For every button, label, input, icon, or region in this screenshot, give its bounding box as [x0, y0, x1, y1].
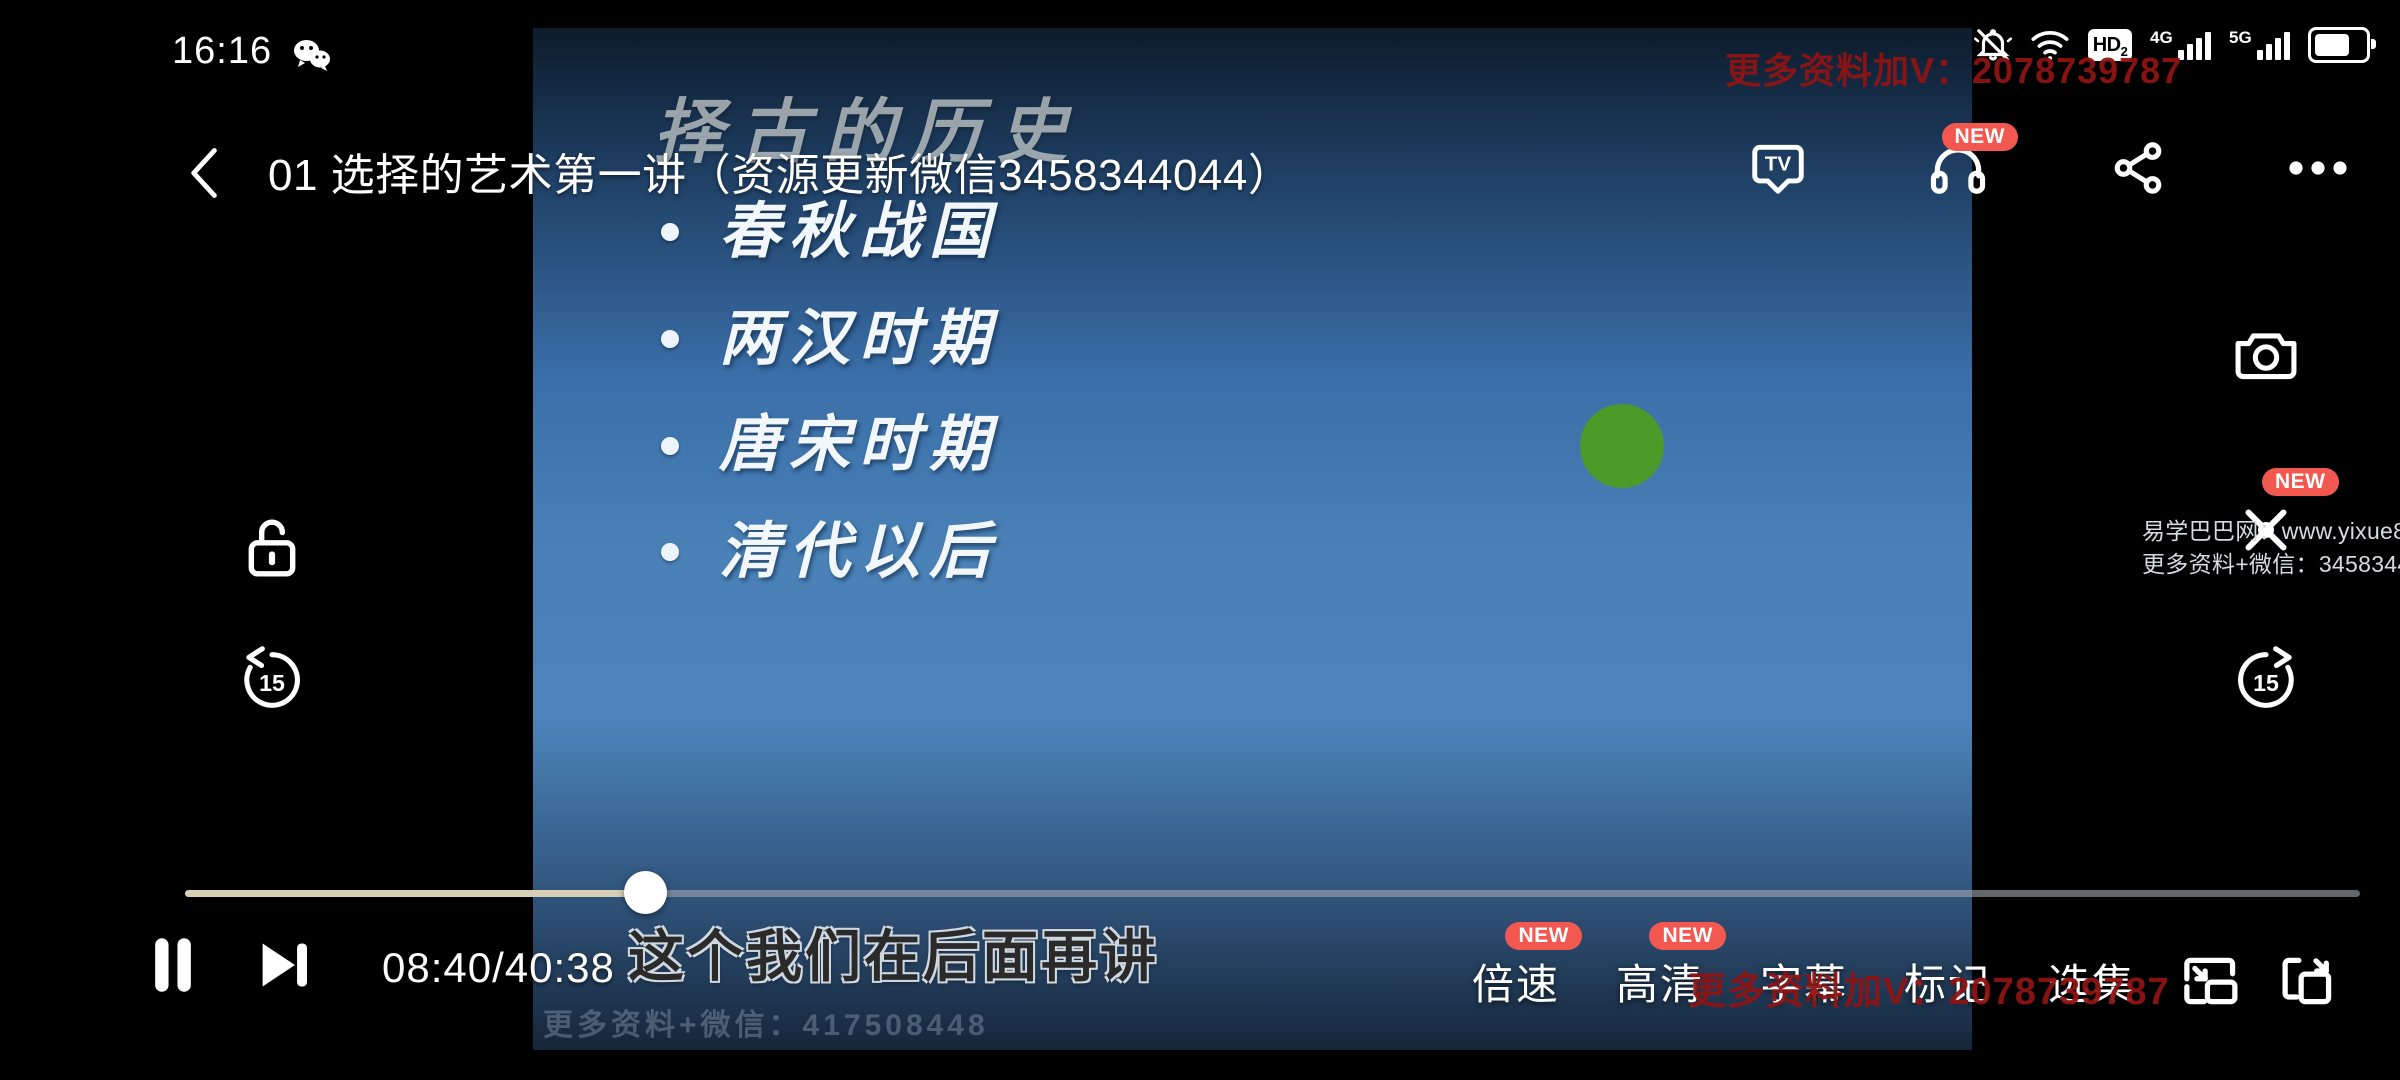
progress-track[interactable]: [185, 890, 2360, 897]
svg-text:TV: TV: [1765, 153, 1792, 176]
list-item: 两汉时期: [661, 307, 1421, 372]
bullet-icon: [661, 543, 679, 561]
new-badge: NEW: [2262, 468, 2339, 496]
new-badge: NEW: [1505, 922, 1582, 950]
watermark-line-1: 易学巴巴网：www.yixue88.cn: [2142, 515, 2400, 548]
svg-text:15: 15: [259, 670, 285, 696]
speed-button[interactable]: 倍速 NEW: [1444, 936, 1588, 1026]
svg-text:15: 15: [2253, 670, 2279, 696]
speed-label: 倍速: [1472, 951, 1560, 1012]
slide-bullet-list: 春秋战国 两汉时期 唐宋时期 清代以后: [661, 200, 1421, 627]
bullet-icon: [661, 330, 679, 348]
unlock-icon[interactable]: [222, 498, 322, 598]
slide-text: 清代以后: [719, 520, 999, 585]
green-dot-marker: [1580, 404, 1664, 488]
time-display: 08:40/40:38: [382, 944, 615, 992]
battery-icon: [2308, 27, 2370, 63]
status-clock: 16:16: [172, 30, 272, 73]
player-top-bar: 01 选择的艺术第一讲（资源更新微信3458344044） TV NEW: [0, 125, 2400, 221]
tv-cast-icon[interactable]: TV: [1740, 125, 1816, 211]
list-item: 唐宋时期: [661, 413, 1421, 478]
shrink-window-icon[interactable]: [2164, 936, 2260, 1026]
slide-text: 两汉时期: [719, 307, 999, 372]
floating-window-icon[interactable]: [2260, 936, 2356, 1026]
site-watermark: 易学巴巴网：www.yixue88.cn 更多资料+微信：3458344044: [2142, 515, 2400, 582]
red-watermark-top: 更多资料加V：2078739787: [1725, 42, 2182, 94]
rewind-15-icon[interactable]: 15: [222, 630, 322, 730]
list-item: 清代以后: [661, 520, 1421, 585]
next-track-icon[interactable]: [254, 937, 310, 998]
progress-thumb[interactable]: [624, 871, 667, 914]
bullet-icon: [661, 437, 679, 455]
progress-fill: [185, 890, 644, 897]
bullet-icon: [661, 223, 679, 241]
watermark-line-2: 更多资料+微信：3458344044: [2142, 548, 2400, 581]
new-badge: NEW: [1649, 922, 1726, 950]
back-button[interactable]: [170, 133, 240, 213]
wechat-icon: [292, 38, 332, 77]
page-title: 01 选择的艺术第一讲（资源更新微信3458344044）: [268, 139, 1292, 203]
pause-icon[interactable]: [150, 936, 196, 999]
slide-text: 唐宋时期: [719, 413, 999, 478]
forward-15-icon[interactable]: 15: [2216, 630, 2316, 730]
camera-icon[interactable]: [2216, 305, 2316, 405]
share-icon[interactable]: [2100, 125, 2176, 211]
headphone-icon[interactable]: NEW: [1920, 125, 1996, 211]
new-badge: NEW: [1942, 123, 2019, 151]
red-watermark-bottom: 更多资料加V：2078739787: [1688, 960, 2170, 1015]
playback-controls: 08:40/40:38: [150, 936, 615, 999]
progress-bar[interactable]: [0, 880, 2400, 910]
top-actions: TV NEW: [1740, 125, 2356, 211]
signal-5g-icon: 5G: [2229, 30, 2290, 60]
more-icon[interactable]: [2280, 125, 2356, 211]
video-player-screen: 择古的历史 春秋战国 两汉时期 唐宋时期 清代以后 这个我们在后面再讲 更多资料…: [0, 0, 2400, 1080]
